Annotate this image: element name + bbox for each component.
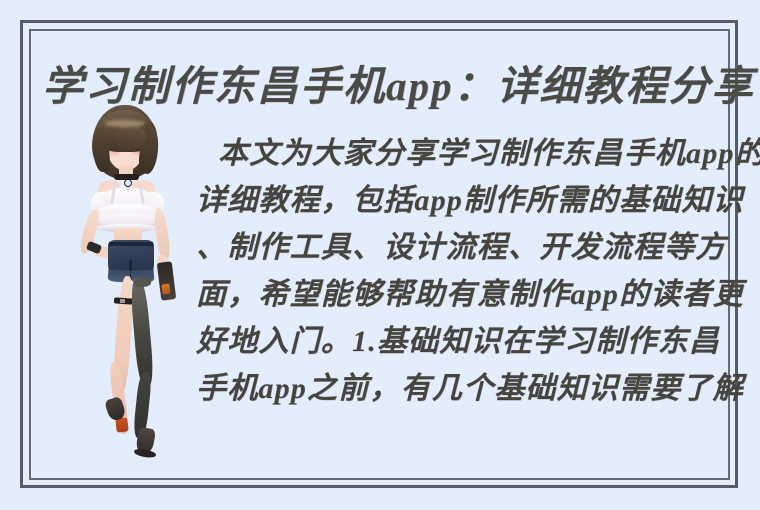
- body-line: 本文为大家分享学习制作东昌手机app的: [196, 130, 728, 177]
- shorts-waistband: [109, 242, 153, 246]
- body-line: 好地入门。1.基础知识在学习制作东昌: [196, 318, 728, 365]
- body-line: 详细教程，包括app制作所需的基础知识: [196, 177, 728, 224]
- leg-right-stocking-thigh: [129, 278, 154, 387]
- boot-right-sole: [134, 448, 157, 459]
- body-line: 手机app之前，有几个基础知识需要了解: [196, 365, 728, 412]
- article-body: 本文为大家分享学习制作东昌手机app的 详细教程，包括app制作所需的基础知识 …: [196, 130, 728, 420]
- arm-right: [152, 207, 171, 260]
- hair-highlight: [105, 120, 145, 127]
- held-phone: [157, 261, 177, 301]
- choker-ring: [124, 179, 132, 187]
- held-phone-accent: [161, 284, 170, 295]
- article-card: 学习制作东昌手机app：详细教程分享: [0, 0, 760, 510]
- thigh-strap-buckle: [120, 299, 125, 303]
- anime-girl-illustration: [60, 100, 200, 425]
- body-line: 、制作工具、设计流程、开发流程等方: [196, 224, 728, 271]
- stocking-top-band: [134, 277, 152, 287]
- body-line: 面，希望能够帮助有意制作app的读者更: [196, 271, 728, 318]
